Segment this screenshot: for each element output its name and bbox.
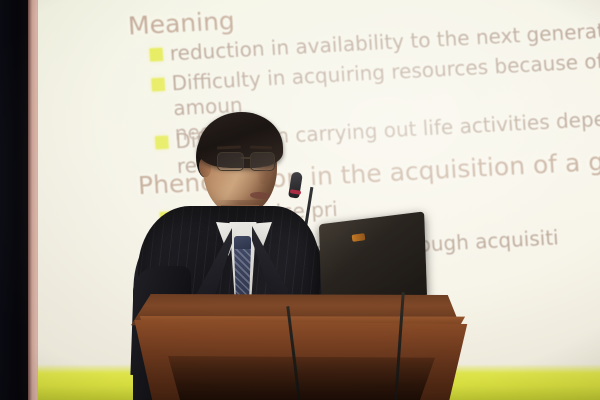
presentation-photo: Resource Depletion Meaning reduction in … <box>0 0 600 400</box>
bullet-square-icon <box>151 78 165 92</box>
bullet-item: ding the use of a reso <box>166 298 405 335</box>
bullet-text: ding the use of a reso <box>186 298 405 334</box>
bullet-square-icon <box>166 315 180 329</box>
room-dark-wall <box>0 0 30 400</box>
bullet-square-icon <box>155 136 169 150</box>
section-heading-meaning: Meaning <box>127 6 235 41</box>
slide-bottom-band-accent <box>38 386 600 400</box>
bullet-text: Environ destruction through acquisiti <box>182 225 560 270</box>
bullet-square-icon <box>162 251 176 265</box>
slide-content: Resource Depletion Meaning reduction in … <box>38 0 600 385</box>
bullet-square-icon <box>160 211 174 225</box>
bullet-text: Source price pri <box>179 197 338 230</box>
bullet-square-icon <box>149 48 163 62</box>
projection-screen: Resource Depletion Meaning reduction in … <box>38 0 600 400</box>
bullet-item: Source price pri <box>159 197 338 231</box>
bullet-item: Environ destruction through acquisiti <box>162 225 559 271</box>
